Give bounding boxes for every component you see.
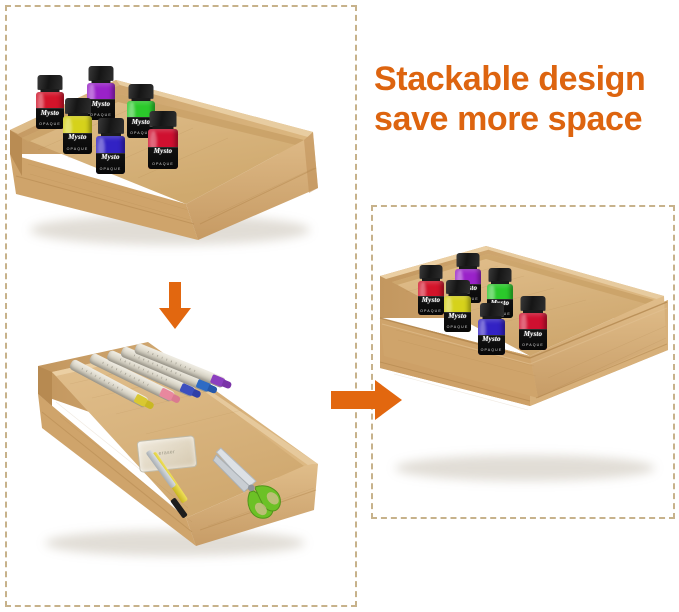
infographic-canvas: Stackable design save more space: [0, 0, 679, 612]
paint-bottle-yellow: MystoOPAQUE: [444, 280, 471, 332]
headline-line-2: save more space: [374, 100, 674, 140]
scissors: [200, 436, 292, 528]
arrow-down-icon: [158, 282, 192, 330]
paint-bottle-red: MystoOPAQUE: [418, 265, 444, 315]
headline-line-1: Stackable design: [374, 60, 645, 98]
paint-bottle-blue: MystoOPAQUE: [478, 303, 505, 355]
paint-bottle-yellow: MystoOPAQUE: [63, 98, 92, 154]
page-title: Stackable design save more space: [374, 60, 674, 140]
paint-bottle-blue: MystoOPAQUE: [96, 118, 125, 174]
paint-bottle-red: MystoOPAQUE: [36, 75, 64, 129]
paint-bottle-crimson: MystoOPAQUE: [148, 111, 178, 169]
paint-bottle-crimson: MystoOPAQUE: [519, 296, 547, 350]
